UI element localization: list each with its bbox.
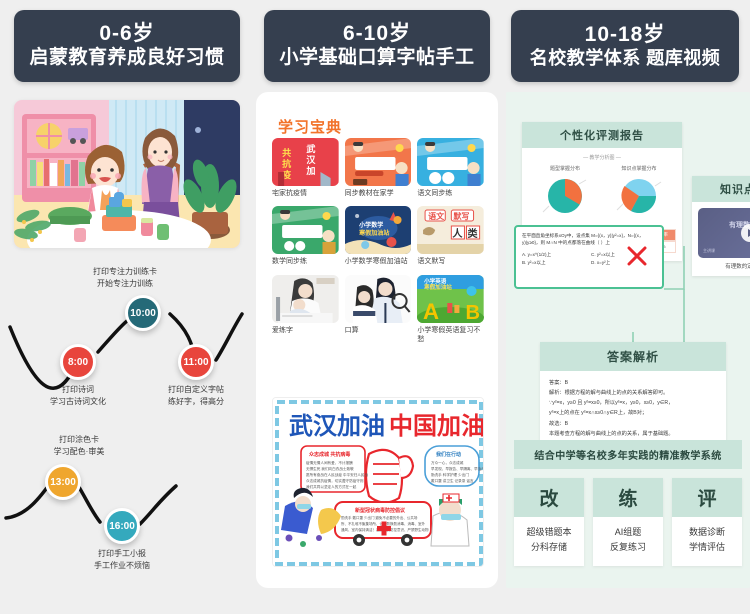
timeline-node-1000[interactable]: 10:00 [125,295,161,331]
poster-title-left: 武汉加油 [289,413,385,440]
timeline-node-1600[interactable]: 16:00 [104,508,140,544]
knowledge-video-title: 知识点视频 [692,176,750,202]
caption-focus-training: 打印专注力训练卡 开始专注力训练 [63,266,187,290]
grid-item-label: 同步教材在家学 [345,189,412,198]
pie-chart-2-label: 知识点掌握分布 [615,165,663,172]
column-age-10-18: 10-18岁 名校教学体系 题库视频 个性化评测报告 — 教学分析图 — 题型掌… [503,0,750,614]
grid-item-label: 爱练字 [272,326,339,335]
grid-item-label: 小学寒假英语复习不愁 [417,326,484,345]
knowledge-video-card[interactable]: 知识点视频 有理数知识点 主讲课 2020年寒假班 有理数的定义与表示 [692,176,750,276]
video-badge-left: 主讲课 [703,248,715,254]
svg-text:戴口罩 讲卫生 记录录 谣言: 戴口罩 讲卫生 记录录 谣言 [431,478,474,483]
svg-text:汉: 汉 [306,154,316,165]
pie-chart-group: 题型掌握分布 知识点掌握分布 [528,165,676,223]
thumb-math-winter: 小学数学 寒假加油站 [345,206,412,254]
method-card-line: 分科存储 [516,540,582,555]
grid-item[interactable]: 语文同步练 [417,138,484,198]
method-card-line: AI组题 [595,525,661,540]
play-icon[interactable] [741,224,750,242]
method-card-body: AI组题 反复练习 [593,517,663,566]
svg-text:众志成城抗疫情，切实遵守防疫守则: 众志成城抗疫情，切实遵守防疫守则 [306,478,364,483]
method-card-glyph: 改 [514,478,584,517]
video-badges: 主讲课 2020年寒假班 [703,248,750,254]
answer-line: 解析：根据方程的解与曲线上的点的关系解答即可。 [549,388,717,398]
header-subtitle: 名校教学体系 题库视频 [530,47,721,70]
method-card-glyph: 评 [672,478,742,517]
grid-item[interactable]: 共 抗 疫 武 汉 加 宅家抗疫情 [272,138,339,198]
header-card-0-6: 0-6岁 启蒙教育养成良好习惯 [14,10,240,82]
grid-item[interactable]: 小学数学 寒假加油站 小学数学寒假加油站 [345,206,412,266]
method-card-correct[interactable]: 改 超级错题本 分科存储 [514,478,584,566]
grid-item[interactable]: 小学英语 寒假加油站 A B 小学寒假英语复习不愁 [417,275,484,345]
thumb-mental-math [345,275,412,323]
grid-item-label: 小学数学寒假加油站 [345,257,412,266]
answer-line: ∵y²=x，y≥0 且 y²=x≥0，所以y²=x，y≥0，x≥0，y∈R， [549,398,717,408]
poster-title-right: 中国加油 [389,413,484,440]
method-card-practice[interactable]: 练 AI组题 反复练习 [593,478,663,566]
svg-text:类: 类 [468,227,479,240]
study-resources-panel: 学习宝典 共 抗 疫 武 汉 加 [256,92,498,588]
svg-text:人: 人 [453,227,464,240]
method-card-glyph: 练 [593,478,663,517]
pie-chart-2: 知识点掌握分布 [615,165,663,223]
svg-text:愿所有奋战在人民战疫 中平安归人民战: 愿所有奋战在人民战疫 中平安归人民战 [306,472,368,477]
grid-item-label: 宅家抗疫情 [272,189,339,198]
svg-text:抗: 抗 [282,158,291,169]
svg-text:B: B [466,302,481,323]
header-card-10-18: 10-18岁 名校教学体系 题库视频 [511,10,739,82]
svg-text:我们共同以坚定人的方式在一起: 我们共同以坚定人的方式在一起 [306,484,357,489]
svg-text:早发现、早报告、早隔离、早治疗: 早发现、早报告、早隔离、早治疗 [431,466,484,471]
column-age-0-6: 0-6岁 启蒙教育养成良好习惯 [0,0,250,614]
timeline-node-1100[interactable]: 11:00 [178,344,214,380]
caption-0800: 打印诗词 学习古诗词文化 [16,384,140,408]
method-card-line: 数据诊断 [674,525,740,540]
svg-text:新型冠状病毒防控倡议: 新型冠状病毒防控倡议 [355,507,406,514]
svg-text:勤洗手 科学护理 少出门: 勤洗手 科学护理 少出门 [431,472,469,477]
svg-text:我们在行动: 我们在行动 [436,451,461,458]
timeline-node-1300[interactable]: 13:00 [45,464,81,500]
svg-text:疫情无情人间有爱，不计报酬: 疫情无情人间有爱，不计报酬 [306,460,353,465]
teaching-system-panel: 个性化评测报告 — 教学分析图 — 题型掌握分布 [506,92,750,588]
question-option[interactable]: B. y²=x以上 [522,260,587,266]
answer-analysis-title: 答案解析 [540,342,726,371]
grid-item[interactable]: 语文 默写 人 类 语文默写 [417,206,484,266]
thumb-math-sync [272,206,339,254]
grid-item-label: 语文同步练 [417,189,484,198]
answer-line: y²=x上的点在 y²=x∩x≥0∩y∈R上，故B对； [549,408,717,418]
grid-item[interactable]: 爱练字 [272,275,339,345]
svg-text:寒假加油站: 寒假加油站 [358,229,389,237]
method-card-line: 超级错题本 [516,525,582,540]
wuhan-poster[interactable]: 武汉加油 中国加油 众志成城 共抗病毒 疫情无情人间有爱，不计报酬 无惧生死 我… [272,397,484,567]
video-thumbnail[interactable]: 有理数知识点 主讲课 2020年寒假班 [698,208,750,258]
svg-text:语文: 语文 [428,211,445,221]
method-cards: 改 超级错题本 分科存储 练 AI组题 反复练习 评 数据 [514,478,742,566]
svg-text:默写: 默写 [454,211,470,221]
assessment-report-title: 个性化评测报告 [522,122,682,148]
grid-item-label: 口算 [345,326,412,335]
answer-analysis-card[interactable]: 答案解析 答案：B 解析：根据方程的解与曲线上的点的关系解答即可。 ∵y²=x，… [540,342,726,448]
svg-text:共: 共 [282,147,291,158]
svg-text:无惧生死 我们向白衣战士致敬: 无惧生死 我们向白衣战士致敬 [306,466,354,471]
assessment-report-caption: — 教学分析图 — [528,154,676,161]
svg-text:万众一心，众志成城: 万众一心，众志成城 [431,460,464,465]
wrong-answer-x-icon [626,245,648,267]
knowledge-video-body: 有理数知识点 主讲课 2020年寒假班 有理数的定义与表示 [692,202,750,276]
header-age-label: 6-10岁 [343,22,411,46]
grid-item-label: 语文默写 [417,257,484,266]
thumb-english-winter: 小学英语 寒假加油站 A B [417,275,484,323]
study-resources-title: 学习宝典 [278,116,342,137]
thumb-chinese-sync [417,138,484,186]
svg-text:小学英语: 小学英语 [424,277,447,285]
method-card-evaluate[interactable]: 评 数据诊断 学情评估 [672,478,742,566]
svg-text:众志成城 共抗病毒: 众志成城 共抗病毒 [309,451,350,458]
video-caption: 有理数的定义与表示 [698,262,750,270]
svg-text:A: A [423,299,439,323]
question-card[interactable]: 在平面直角坐标系xOy中，设点集 M={(x，y)|y²=x}，N={(x，y)… [514,225,664,289]
grid-item-label: 数学同步练 [272,257,339,266]
method-card-body: 超级错题本 分科存储 [514,517,584,566]
page-root: 0-6岁 启蒙教育养成良好习惯 [0,0,750,614]
thumb-dictation: 语文 默写 人 类 [417,206,484,254]
method-card-line: 反复练习 [595,540,661,555]
study-resources-grid: 共 抗 疫 武 汉 加 宅家抗疫情 [272,138,484,345]
header-age-label: 10-18岁 [585,23,666,47]
answer-analysis-body: 答案：B 解析：根据方程的解与曲线上的点的关系解答即可。 ∵y²=x，y≥0 且… [540,371,726,448]
header-age-label: 0-6岁 [99,22,154,46]
question-option[interactable]: A. y=x^(1/2)上 [522,252,587,258]
svg-text:勤洗手 戴口罩 少出门 避免不必要的外出、公共场: 勤洗手 戴口罩 少出门 避免不必要的外出、公共场 [341,515,418,520]
thumb-handwriting [272,275,339,323]
column-age-6-10: 6-10岁 小学基础口算字帖手工 学习宝典 共 抗 疫 武 汉 加 [250,0,503,614]
method-card-body: 数据诊断 学情评估 [672,517,742,566]
method-card-line: 学情评估 [674,540,740,555]
svg-text:寒假加油站: 寒假加油站 [423,283,452,291]
answer-line: 本题考查方程的解与曲线上的点的关系，属于基础题。 [549,429,717,439]
grid-item[interactable]: 同步教材在家学 [345,138,412,198]
svg-text:武: 武 [306,143,315,154]
caption-1600: 打印手工小报 手工作业不烦恼 [60,548,184,572]
timeline-afternoon: 打印涂色卡 学习配色·审美 13:00 16:00 打印手工小报 手工作业不烦恼 [0,420,250,585]
caption-1300: 打印涂色卡 学习配色·审美 [17,434,141,458]
grid-item[interactable]: 数学同步练 [272,206,339,266]
pie-chart-1-label: 题型掌握分布 [541,165,589,172]
answer-line: 答案：B [549,378,717,388]
timeline-node-0800[interactable]: 8:00 [60,344,96,380]
thumb-sync-textbook [345,138,412,186]
header-card-6-10: 6-10岁 小学基础口算字帖手工 [264,10,490,82]
caption-1100: 打印自定义字帖 练好字，得高分 [134,384,258,408]
timeline-morning: 打印专注力训练卡 开始专注力训练 8:00 打印诗词 学习古诗词文化 10:00… [0,252,250,412]
svg-text:小学数学: 小学数学 [358,221,383,229]
header-subtitle: 小学基础口算字帖手工 [279,46,474,70]
teaching-system-banner: 结合中学等名校多年实践的精准教学系统 [514,440,742,469]
svg-text:加: 加 [305,165,315,176]
header-subtitle: 启蒙教育养成良好习惯 [29,46,224,70]
family-illustration [14,100,240,248]
pie-chart-1: 题型掌握分布 [541,165,589,223]
thumb-stay-home: 共 抗 疫 武 汉 加 [272,138,339,186]
grid-item[interactable]: 口算 [345,275,412,345]
answer-line: 故选：B [549,419,717,429]
